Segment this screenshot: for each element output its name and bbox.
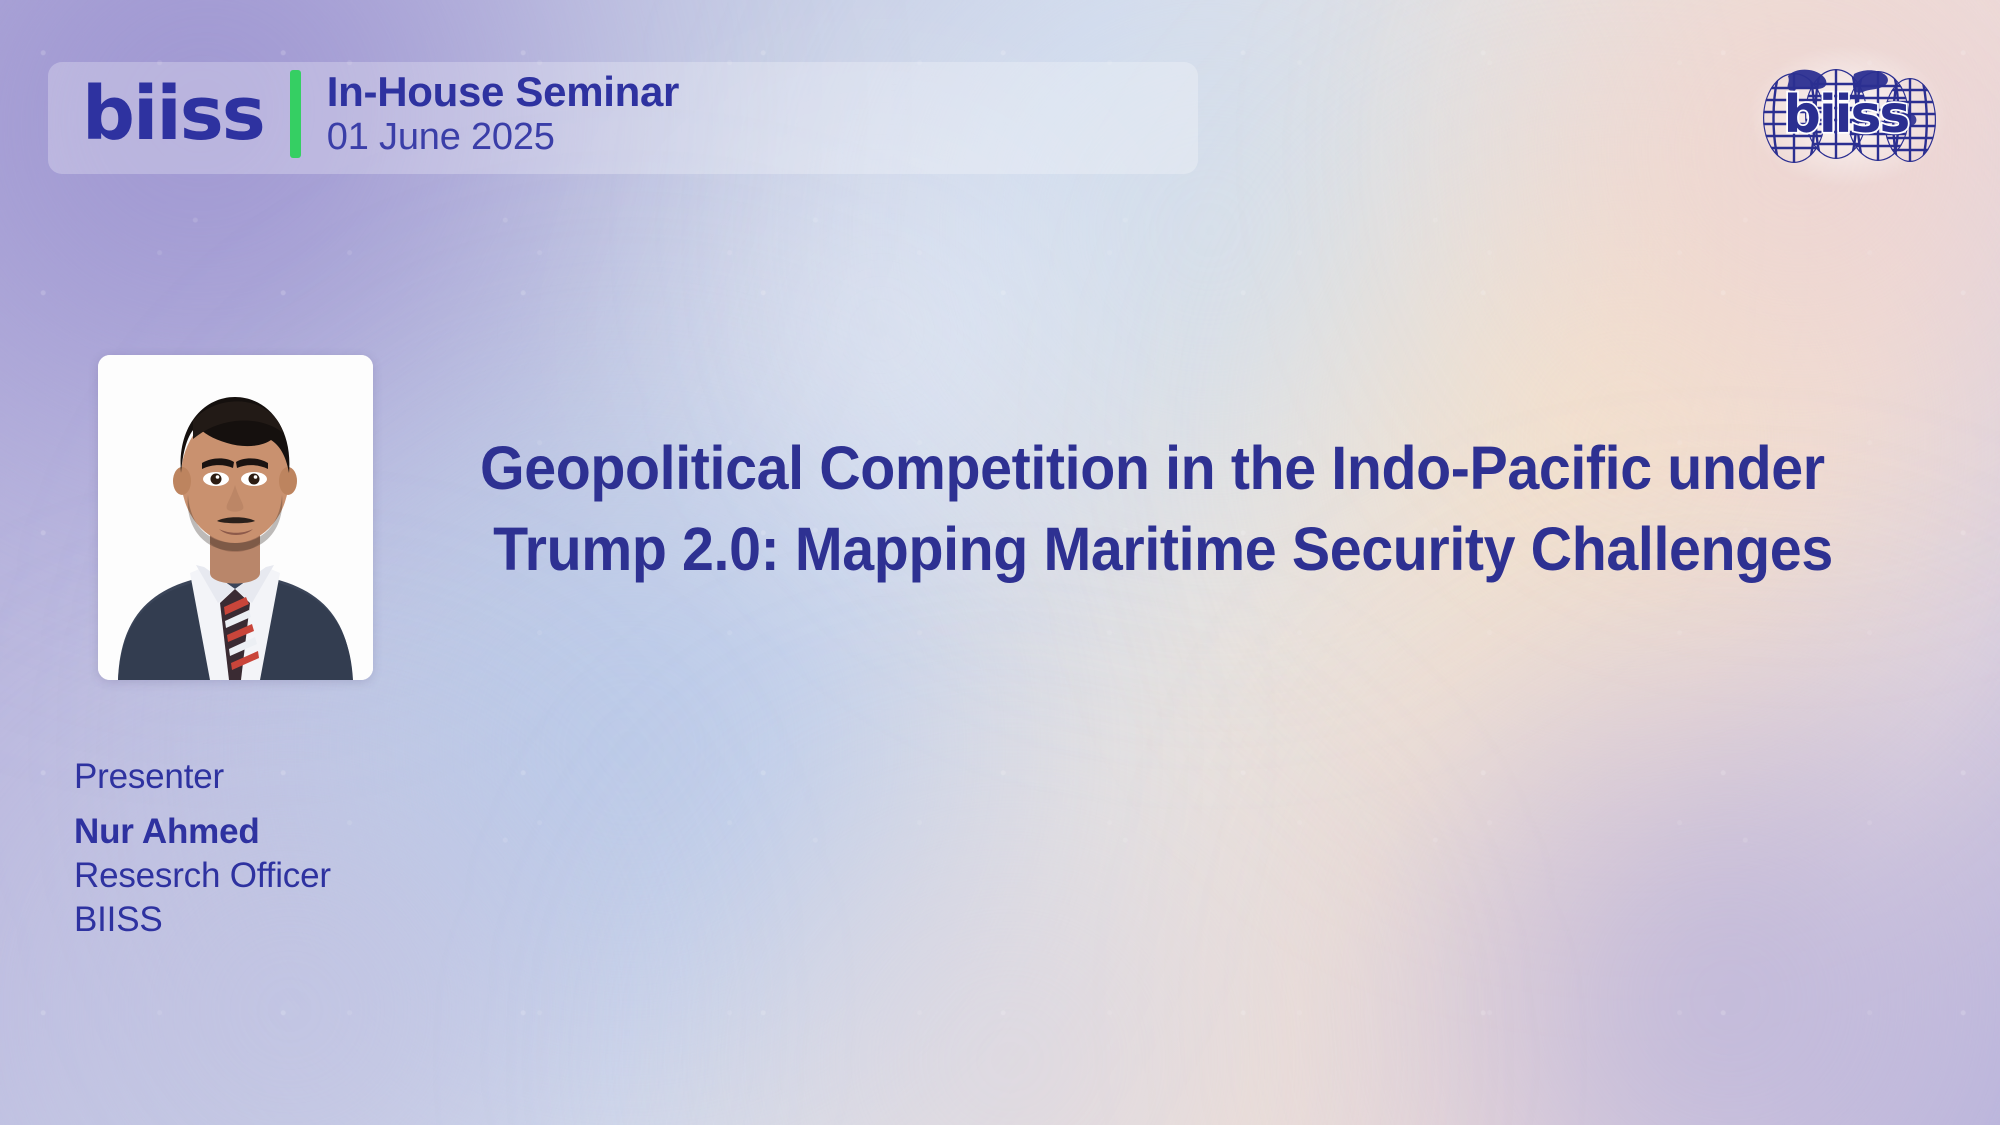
presenter-organization: BIISS — [74, 898, 331, 942]
slide-title: Geopolitical Competition in the Indo-Pac… — [480, 428, 1920, 590]
slide-title-line-2: Trump 2.0: Mapping Maritime Security Cha… — [480, 509, 1834, 590]
biiss-globe-logo-icon: biiss — [1758, 56, 1938, 176]
seminar-label: In-House Seminar — [327, 68, 679, 115]
biiss-wordmark: biiss — [82, 77, 264, 151]
presenter-designation: Resesrch Officer — [74, 854, 331, 898]
seminar-date: 01 June 2025 — [327, 115, 679, 160]
presenter-headshot-image — [98, 355, 373, 680]
svg-text:biiss: biiss — [1784, 85, 1909, 145]
green-divider-bar — [290, 70, 301, 158]
header-brand-row: biiss In-House Seminar 01 June 2025 — [82, 68, 679, 160]
presenter-info: Presenter Nur Ahmed Resesrch Officer BII… — [74, 755, 331, 942]
header-text-group: In-House Seminar 01 June 2025 — [327, 68, 679, 160]
slide-title-line-1: Geopolitical Competition in the Indo-Pac… — [480, 428, 1834, 509]
presenter-headshot — [98, 355, 373, 680]
biiss-globe-logo: biiss — [1758, 56, 1938, 176]
presenter-role-label: Presenter — [74, 755, 331, 799]
presenter-name: Nur Ahmed — [74, 810, 331, 854]
